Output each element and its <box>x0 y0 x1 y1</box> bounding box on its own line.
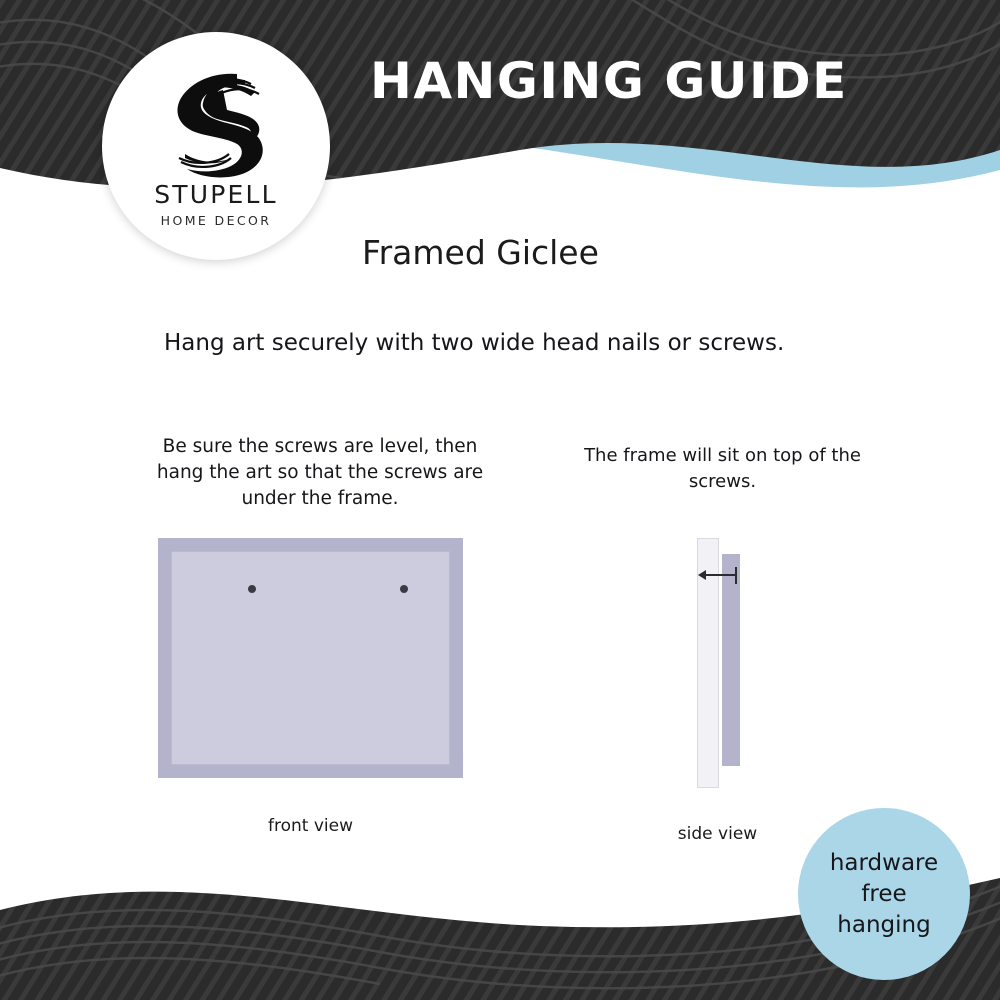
brand-tagline: HOME DECOR <box>102 213 330 228</box>
side-view-arrow-icon <box>698 570 706 580</box>
side-view-frame <box>722 554 740 766</box>
product-type: Framed Giclee <box>362 233 599 272</box>
side-view-caption: The frame will sit on top of the screws. <box>575 443 870 495</box>
brand-logo: STUPELL HOME DECOR <box>102 32 330 260</box>
side-view-label: side view <box>600 824 835 844</box>
badge-line-1: hardware <box>830 848 938 879</box>
badge-line-3: hanging <box>837 910 930 941</box>
page-title: HANGING GUIDE <box>370 52 848 110</box>
side-view-nail-head <box>735 567 737 584</box>
brand-name: STUPELL <box>102 180 330 209</box>
front-view-label: front view <box>158 816 463 836</box>
front-view-mat <box>171 551 450 765</box>
front-view-frame <box>158 538 463 778</box>
main-instruction: Hang art securely with two wide head nai… <box>164 330 784 356</box>
stupell-swirl-icon <box>151 70 281 180</box>
screw-dot-right <box>400 585 408 593</box>
front-view-caption: Be sure the screws are level, then hang … <box>150 434 490 512</box>
badge-line-2: free <box>861 879 906 910</box>
hanging-guide-page: HANGING GUIDE STUPELL HOME DECOR Framed … <box>0 0 1000 1000</box>
hardware-free-badge: hardware free hanging <box>798 808 970 980</box>
screw-dot-left <box>248 585 256 593</box>
